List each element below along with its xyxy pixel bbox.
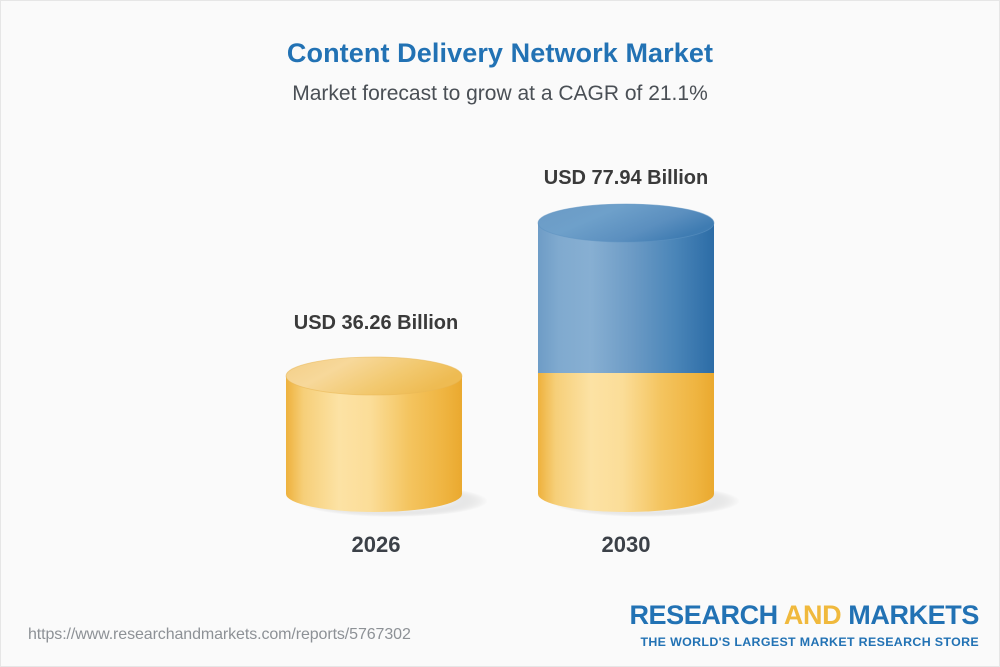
infographic-canvas: Content Delivery Network Market Market f… (0, 0, 1000, 667)
bar-2030 (538, 204, 740, 517)
logo-text-research: RESEARCH (629, 600, 777, 630)
logo-text-markets: MARKETS (848, 600, 979, 630)
bar-value-label-2026: USD 36.26 Billion (246, 312, 506, 335)
logo-tagline: THE WORLD'S LARGEST MARKET RESEARCH STOR… (629, 636, 979, 648)
bar-2030-base-segment (538, 373, 714, 512)
logo-wordmark: RESEARCH AND MARKETS (629, 602, 979, 629)
logo-text-and: AND (784, 600, 841, 630)
bar-2026-body (286, 376, 462, 512)
source-url[interactable]: https://www.researchandmarkets.com/repor… (28, 626, 411, 644)
axis-label-2030: 2030 (496, 532, 756, 558)
bar-2026 (286, 357, 488, 517)
research-and-markets-logo[interactable]: RESEARCH AND MARKETS THE WORLD'S LARGEST… (629, 602, 979, 648)
bar-2030-growth-segment (538, 223, 714, 373)
bar-value-label-2030: USD 77.94 Billion (496, 167, 756, 190)
axis-label-2026: 2026 (246, 532, 506, 558)
